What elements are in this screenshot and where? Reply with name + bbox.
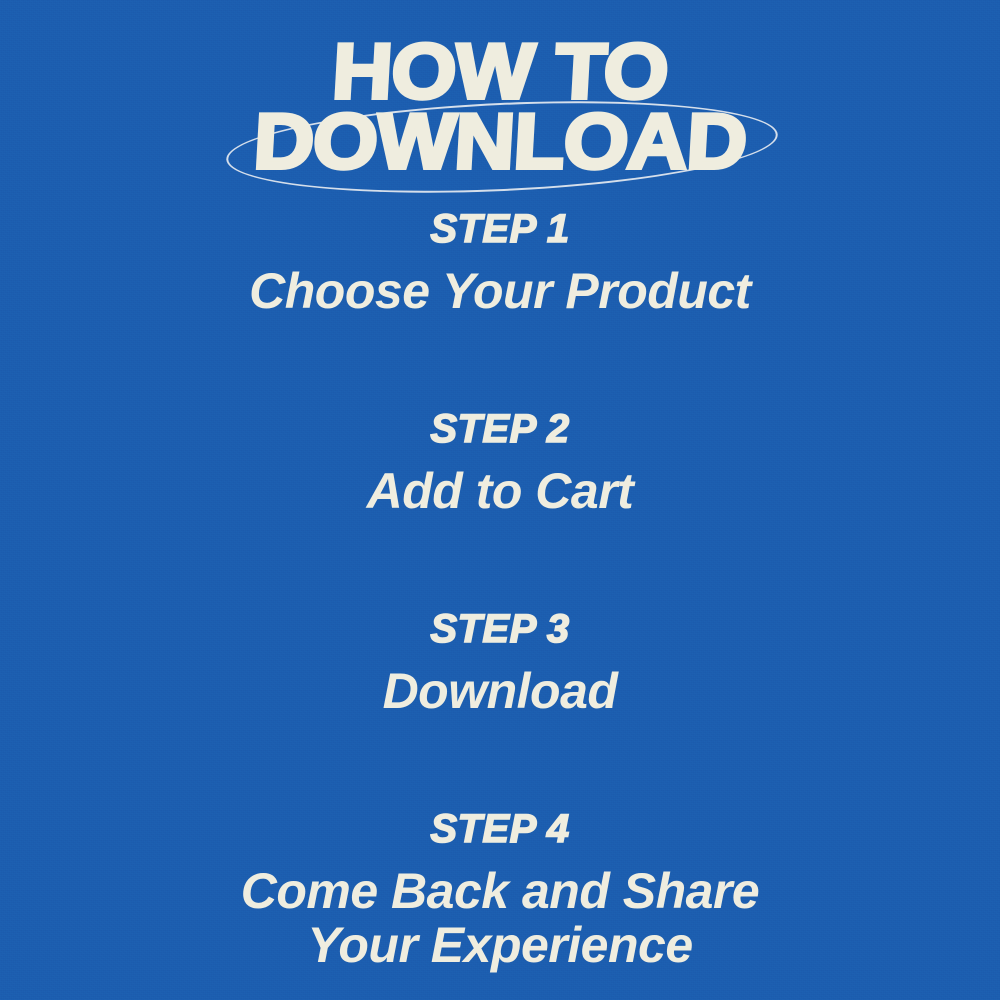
list-item: STEP 3 Download [0, 608, 1000, 718]
steps-list: STEP 1 Choose Your Product STEP 2 Add to… [0, 208, 1000, 972]
step-3-label: STEP 3 [0, 608, 1000, 650]
page-title-line-2-wrapper: DOWNLOAD [0, 106, 1000, 182]
list-item: STEP 4 Come Back and Share Your Experien… [0, 808, 1000, 972]
step-2-title: Add to Cart [0, 464, 1000, 518]
step-4-label: STEP 4 [0, 808, 1000, 850]
list-item: STEP 2 Add to Cart [0, 408, 1000, 518]
page-title-line-2: DOWNLOAD [0, 106, 1000, 178]
poster-title-block: HOW TO DOWNLOAD [0, 36, 1000, 182]
poster-canvas: HOW TO DOWNLOAD STEP 1 Choose Your Produ… [0, 0, 1000, 1000]
step-2-label: STEP 2 [0, 408, 1000, 450]
step-1-label: STEP 1 [0, 208, 1000, 250]
step-3-title: Download [0, 664, 1000, 718]
step-1-title: Choose Your Product [0, 264, 1000, 318]
list-item: STEP 1 Choose Your Product [0, 208, 1000, 318]
step-4-title: Come Back and Share Your Experience [0, 864, 1000, 972]
